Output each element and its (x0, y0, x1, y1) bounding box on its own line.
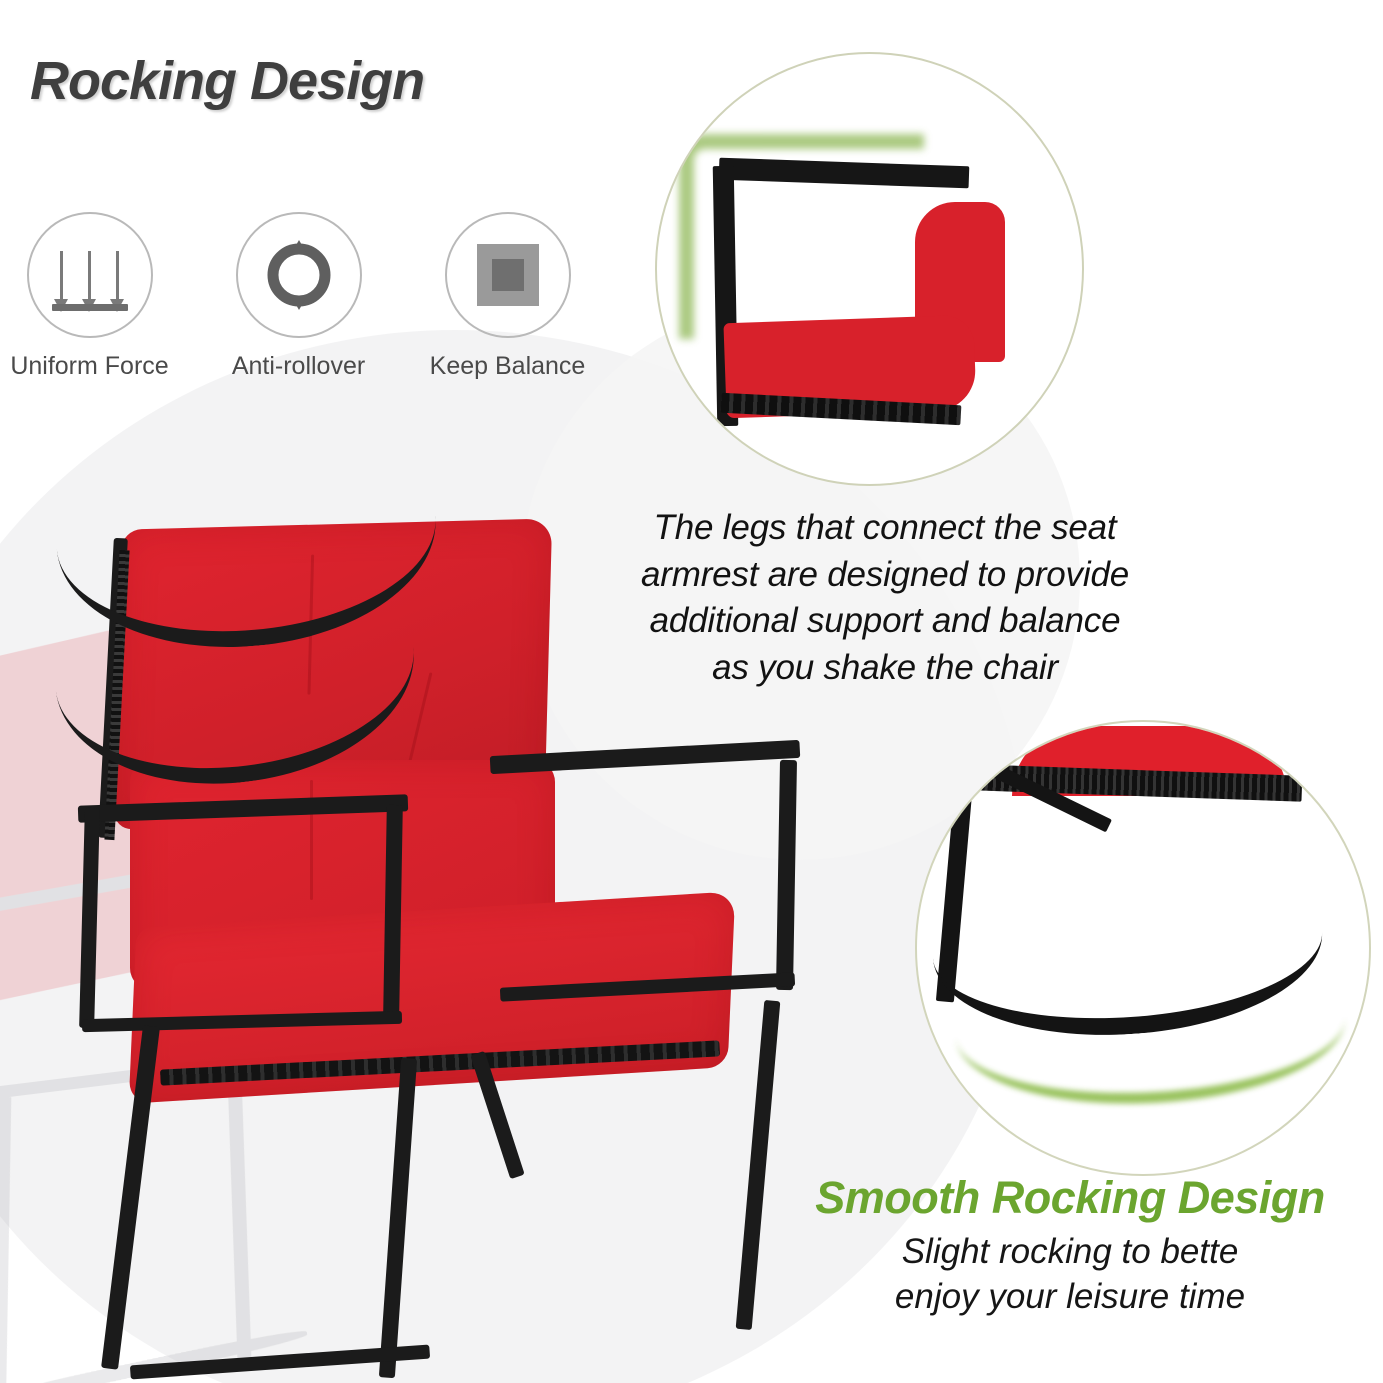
nested-squares-icon (477, 244, 539, 306)
feature-keep-balance: Keep Balance (436, 212, 579, 381)
infographic-canvas: Rocking Design Uniform Force (0, 0, 1383, 1383)
subtitle-line: Slight rocking to bette (760, 1230, 1380, 1275)
armrest-right-front-post (776, 760, 797, 990)
page-title: Rocking Design (30, 50, 424, 112)
motion-arc-green (955, 1002, 1349, 1113)
downward-arrows-on-bar-icon (52, 239, 128, 311)
description-text: The legs that connect the seat armrest a… (585, 505, 1185, 691)
feature-list: Uniform Force Anti-rollover Keep Bala (18, 212, 579, 381)
feature-icon-frame (27, 212, 153, 338)
inset-armrest-leg-closeup (655, 52, 1084, 486)
description-line: The legs that connect the seat (585, 505, 1185, 552)
description-line: additional support and balance (585, 598, 1185, 645)
description-line: as you shake the chair (585, 645, 1185, 692)
feature-anti-rollover: Anti-rollover (227, 212, 370, 381)
feature-uniform-force: Uniform Force (18, 212, 161, 381)
feature-icon-frame (236, 212, 362, 338)
section-title: Smooth Rocking Design (760, 1172, 1380, 1224)
section-subtitle: Slight rocking to bette enjoy your leisu… (760, 1230, 1380, 1320)
circular-rotation-arrows-icon (260, 236, 338, 314)
subtitle-line: enjoy your leisure time (760, 1275, 1380, 1320)
feature-label: Keep Balance (430, 352, 586, 381)
description-line: armrest are designed to provide (585, 552, 1185, 599)
feature-icon-frame (445, 212, 571, 338)
feature-label: Anti-rollover (232, 352, 365, 381)
armrest-left-rear-post (79, 808, 100, 1028)
inset-rocker-base-closeup (915, 720, 1371, 1176)
feature-label: Uniform Force (10, 352, 168, 381)
smooth-rocking-block: Smooth Rocking Design Slight rocking to … (760, 1172, 1380, 1320)
